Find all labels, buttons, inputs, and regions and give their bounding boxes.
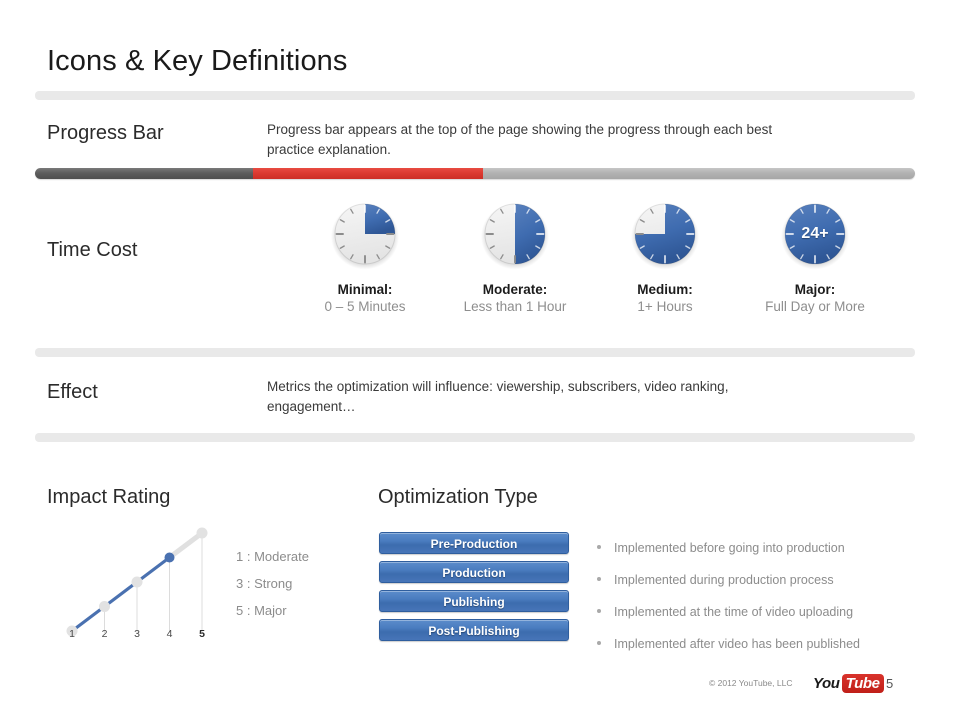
clock-three-quarter-icon bbox=[627, 196, 703, 272]
impact-x-label: 2 bbox=[96, 628, 114, 640]
impact-x-label: 5 bbox=[193, 628, 211, 640]
youtube-logo: You Tube bbox=[813, 674, 884, 693]
impact-rating-legend: 1 : Moderate3 : Strong5 : Major bbox=[236, 543, 366, 624]
impact-x-label: 1 bbox=[63, 628, 81, 640]
time-cost-subtitle: Less than 1 Hour bbox=[440, 298, 590, 316]
section-label-progress-bar: Progress Bar bbox=[47, 122, 164, 145]
optimization-type-button[interactable]: Publishing bbox=[379, 590, 569, 612]
clock-quarter-icon bbox=[327, 196, 403, 272]
optimization-description-text: Implemented before going into production bbox=[614, 541, 845, 555]
footer-copyright: © 2012 YouTube, LLC bbox=[709, 678, 792, 688]
divider-top bbox=[35, 91, 915, 100]
impact-x-label: 3 bbox=[128, 628, 146, 640]
bullet-icon bbox=[597, 577, 601, 581]
impact-legend-item: 3 : Strong bbox=[236, 570, 366, 597]
time-cost-item: 24+Major:Full Day or More bbox=[740, 196, 890, 316]
optimization-description-text: Implemented after video has been publish… bbox=[614, 637, 860, 651]
time-cost-title: Minimal: bbox=[290, 281, 440, 298]
optimization-type-description-list: Implemented before going into production… bbox=[594, 532, 904, 660]
heading-impact-rating: Impact Rating bbox=[47, 486, 170, 509]
optimization-description-item: Implemented after video has been publish… bbox=[594, 628, 904, 660]
bullet-icon bbox=[597, 545, 601, 549]
time-cost-title: Medium: bbox=[590, 281, 740, 298]
section-text-effect: Metrics the optimization will influence:… bbox=[267, 377, 812, 417]
impact-marker[interactable] bbox=[197, 528, 208, 539]
slide-canvas: Icons & Key Definitions Progress Bar Pro… bbox=[0, 0, 954, 716]
optimization-description-text: Implemented at the time of video uploadi… bbox=[614, 605, 853, 619]
time-cost-item: Moderate:Less than 1 Hour bbox=[440, 196, 590, 316]
time-cost-subtitle: 1+ Hours bbox=[590, 298, 740, 316]
clock-half-icon bbox=[477, 196, 553, 272]
progress-segment-current bbox=[253, 168, 483, 179]
progress-segment-remaining bbox=[483, 168, 915, 179]
optimization-type-button[interactable]: Production bbox=[379, 561, 569, 583]
section-label-time-cost: Time Cost bbox=[47, 239, 137, 262]
time-cost-subtitle: 0 – 5 Minutes bbox=[290, 298, 440, 316]
time-cost-item: Minimal:0 – 5 Minutes bbox=[290, 196, 440, 316]
impact-legend-item: 1 : Moderate bbox=[236, 543, 366, 570]
optimization-type-button[interactable]: Post-Publishing bbox=[379, 619, 569, 641]
bullet-icon bbox=[597, 609, 601, 613]
youtube-logo-you: You bbox=[813, 674, 840, 693]
time-cost-item: Medium:1+ Hours bbox=[590, 196, 740, 316]
optimization-description-item: Implemented at the time of video uploadi… bbox=[594, 596, 904, 628]
page-title: Icons & Key Definitions bbox=[47, 45, 348, 78]
optimization-description-item: Implemented before going into production bbox=[594, 532, 904, 564]
page-number: 5 bbox=[886, 676, 893, 691]
optimization-description-item: Implemented during production process bbox=[594, 564, 904, 596]
impact-rating-x-axis-labels: 12345 bbox=[60, 628, 220, 644]
heading-optimization-type: Optimization Type bbox=[378, 486, 538, 509]
section-label-effect: Effect bbox=[47, 381, 98, 404]
time-cost-subtitle: Full Day or More bbox=[740, 298, 890, 316]
time-cost-title: Moderate: bbox=[440, 281, 590, 298]
divider-bottom bbox=[35, 433, 915, 442]
bullet-icon bbox=[597, 641, 601, 645]
divider-middle bbox=[35, 348, 915, 357]
impact-legend-item: 5 : Major bbox=[236, 597, 366, 624]
impact-marker-selected[interactable] bbox=[165, 553, 175, 563]
time-cost-icon-row: Minimal:0 – 5 MinutesModerate:Less than … bbox=[290, 196, 920, 324]
impact-marker[interactable] bbox=[132, 577, 143, 588]
optimization-description-text: Implemented during production process bbox=[614, 573, 834, 587]
clock-full-icon: 24+ bbox=[777, 196, 853, 272]
impact-marker[interactable] bbox=[99, 601, 110, 612]
youtube-logo-tube: Tube bbox=[842, 674, 884, 693]
progress-segment-completed bbox=[35, 168, 253, 179]
impact-rating-chart bbox=[60, 521, 220, 643]
section-text-progress-bar: Progress bar appears at the top of the p… bbox=[267, 120, 812, 160]
optimization-type-button-list: Pre-ProductionProductionPublishingPost-P… bbox=[379, 532, 569, 648]
optimization-type-button[interactable]: Pre-Production bbox=[379, 532, 569, 554]
time-cost-title: Major: bbox=[740, 281, 890, 298]
progress-bar bbox=[35, 168, 915, 179]
impact-x-label: 4 bbox=[161, 628, 179, 640]
